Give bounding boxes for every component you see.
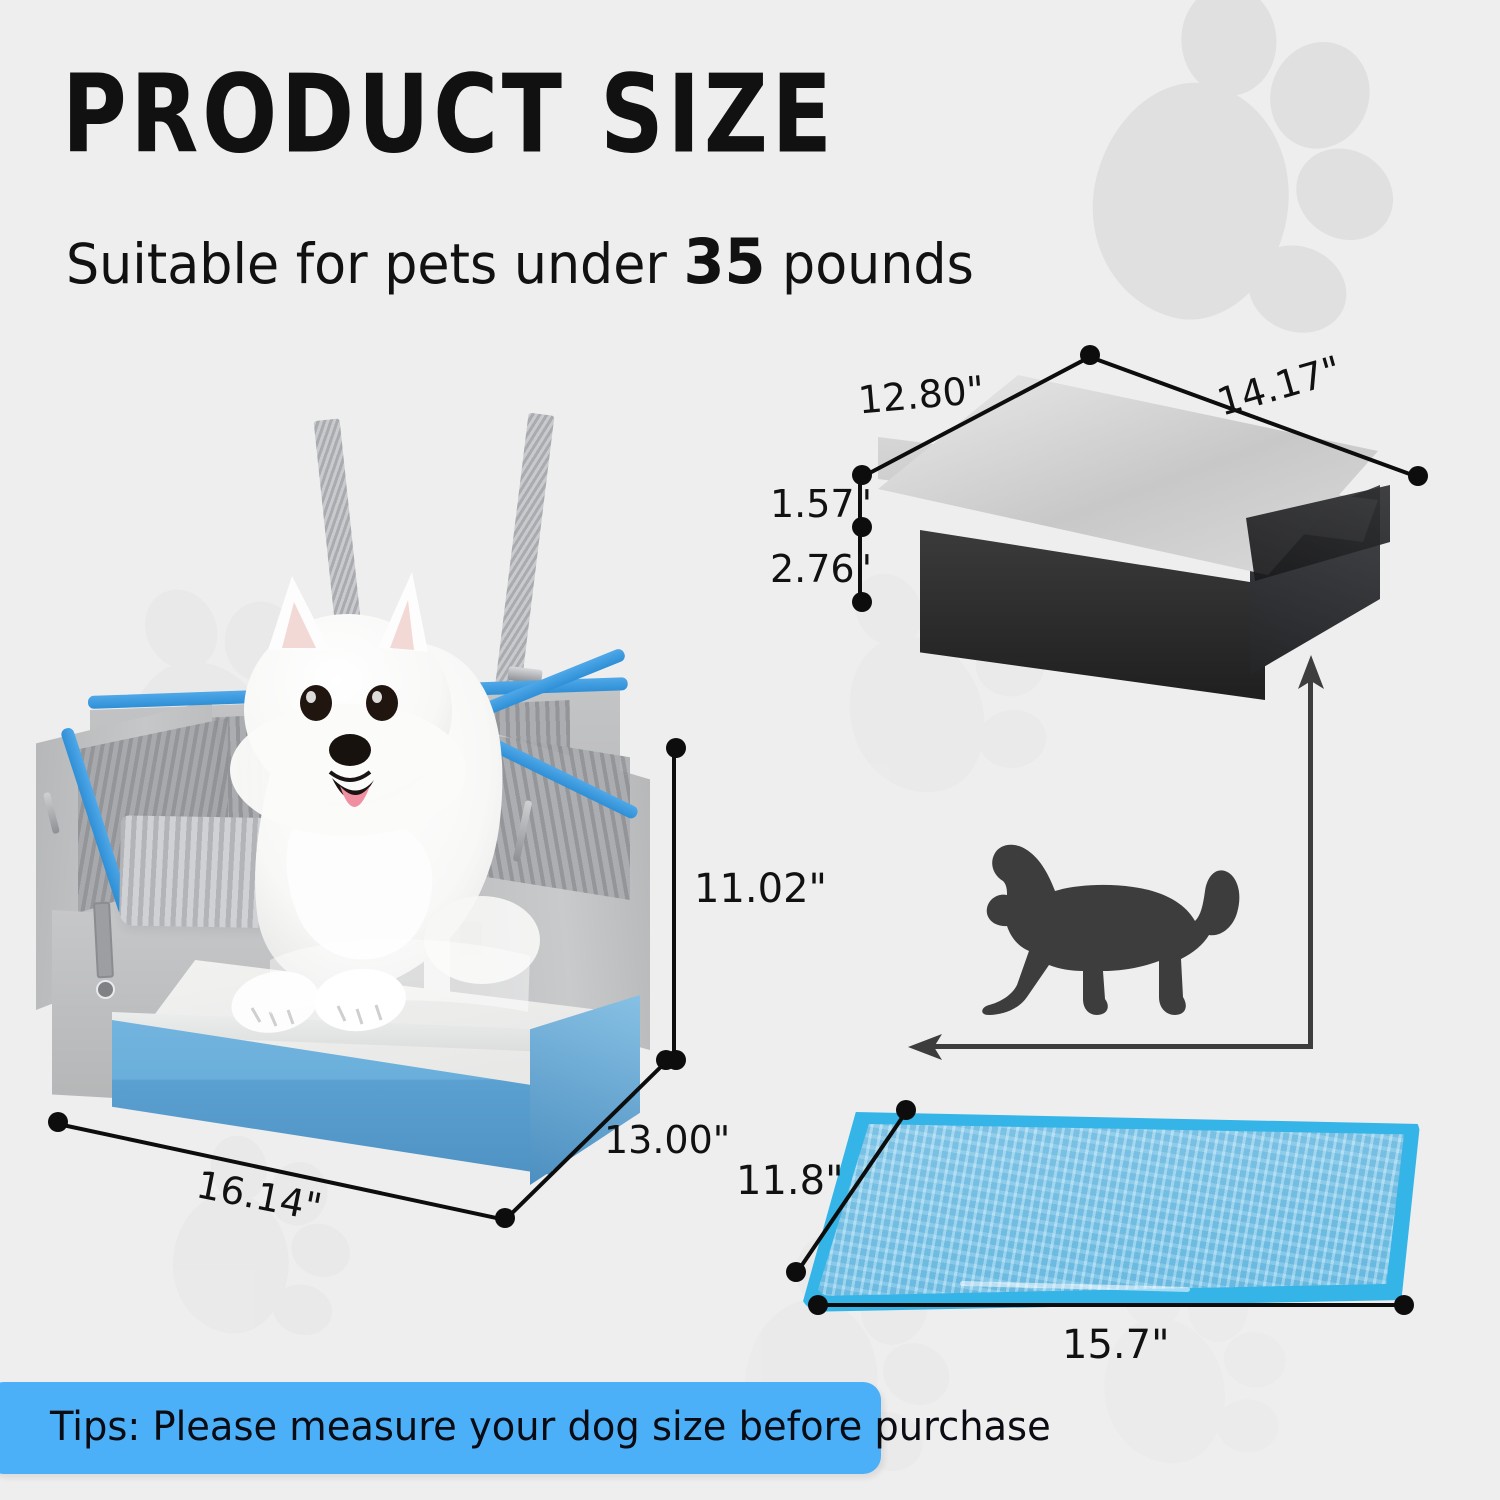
dim-label-blanket-thickness: 1.57" [770,482,872,526]
dim-label-mat-width: 15.7" [1062,1322,1169,1368]
dim-endpoint [666,1050,686,1070]
dog-silhouette-icon [945,775,1265,1015]
dim-label-depth: 13.00" [604,1118,730,1162]
dim-line-height [672,750,676,1062]
paw-print-icon [1058,0,1471,371]
axis-vertical-line [1308,672,1313,1048]
product-folded-box-image [860,365,1420,725]
page-subtitle: Suitable for pets under 35 pounds [66,225,974,298]
arrow-up-icon [1294,655,1328,689]
dim-label-mat-depth: 11.8" [736,1158,843,1204]
product-car-seat-image [30,400,670,1180]
cooling-mat-quilted-surface [816,1124,1404,1296]
dim-line-mat-width [818,1303,1404,1307]
page-title: PRODUCT SIZE [62,52,836,177]
arrow-left-icon [908,1030,942,1064]
subtitle-weight-value: 35 [683,225,765,298]
subtitle-suffix: pounds [782,232,974,296]
dim-endpoint [852,592,872,612]
white-dog-photo [30,400,670,1180]
dim-label-height: 11.02" [694,866,827,912]
subtitle-prefix: Suitable for pets under [66,232,667,296]
dim-label-folded-height: 2.76" [770,547,872,591]
axis-horizontal-line [930,1044,1313,1049]
tips-banner-text: Tips: Please measure your dog size befor… [50,1404,1051,1450]
dim-endpoint [666,738,686,758]
product-size-infographic: PRODUCT SIZE Suitable for pets under 35 … [0,0,1500,1500]
product-cooling-mat-image [800,1112,1420,1312]
